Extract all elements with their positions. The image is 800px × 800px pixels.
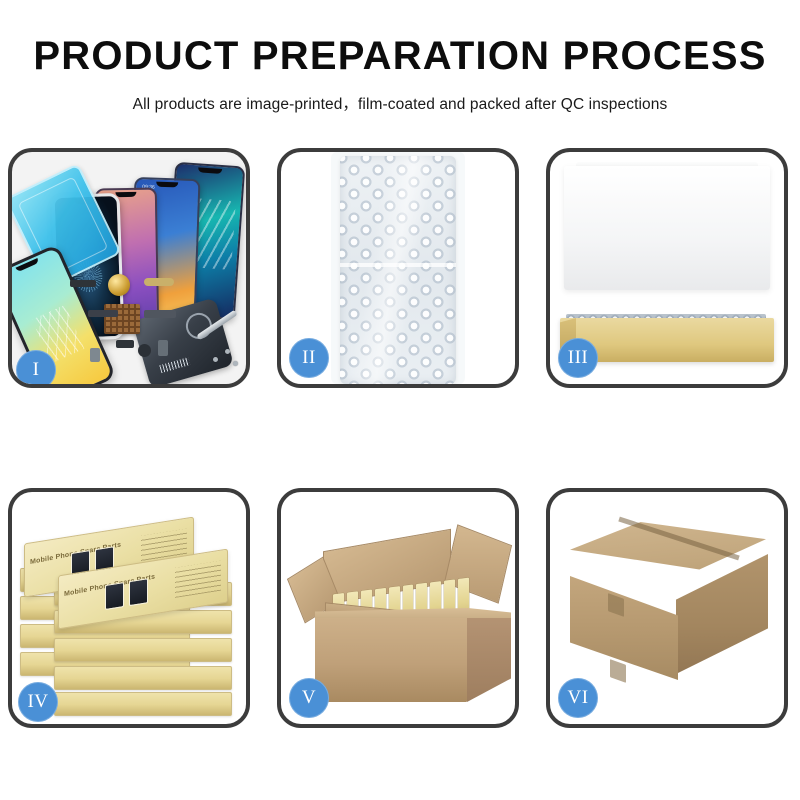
step-panel-2: II (277, 148, 519, 388)
box-stack: Mobile Phone Spare Parts Mobile Phone Sp… (20, 510, 242, 718)
step-badge-2: II (289, 338, 329, 378)
screen-photo-3-icon (105, 582, 124, 610)
ic-chip-icon (116, 340, 134, 348)
step-panel-1: 09:36 I (8, 148, 250, 388)
sim-tray-icon (158, 340, 168, 356)
box-spec-lines-2 (175, 561, 221, 598)
step-panel-4: Mobile Phone Spare Parts Mobile Phone Sp… (8, 488, 250, 728)
step-panel-6: VI (546, 488, 788, 728)
bubble-wrap-icon (340, 156, 456, 384)
circuit-board-icon (104, 304, 140, 334)
step-panel-5: V (277, 488, 519, 728)
header: PRODUCT PREPARATION PROCESS All products… (0, 0, 800, 114)
stacked-box-layer (54, 638, 232, 662)
carton-side-face (467, 618, 511, 702)
screw-3-icon (233, 361, 238, 366)
step-badge-5: V (289, 678, 329, 718)
page-subtitle: All products are image-printed，film-coat… (0, 92, 800, 114)
step-panel-3: III (546, 148, 788, 388)
step-badge-3: III (558, 338, 598, 378)
carton-tape-patch-2 (610, 659, 626, 683)
speaker-module-icon (108, 274, 130, 296)
screw-icon (225, 349, 230, 354)
white-box-lid-icon (564, 166, 770, 290)
step-badge-4: IV (18, 682, 58, 722)
wrap-sheen (340, 156, 456, 384)
carton-front-face (315, 618, 467, 702)
product-preparation-infographic: PRODUCT PREPARATION PROCESS All products… (0, 0, 800, 800)
stacked-box-layer (54, 666, 232, 690)
flex-cable-icon (144, 278, 174, 286)
stacked-box-layer (54, 692, 232, 716)
flex-cable-2-icon (88, 310, 118, 317)
step-badge-6: VI (558, 678, 598, 718)
sealed-carton-side-face (676, 554, 768, 674)
screw-2-icon (213, 357, 218, 362)
flex-cable-3-icon (144, 310, 176, 318)
step-1-image: 09:36 (12, 152, 246, 384)
step-badge-1: I (16, 350, 56, 388)
battery-connector-icon (70, 280, 96, 287)
camera-module-icon (90, 348, 100, 362)
steps-grid: 09:36 I (8, 148, 792, 728)
screen-photo-4-icon (129, 578, 148, 606)
page-title: PRODUCT PREPARATION PROCESS (0, 36, 800, 76)
vibrator-icon (138, 344, 151, 357)
